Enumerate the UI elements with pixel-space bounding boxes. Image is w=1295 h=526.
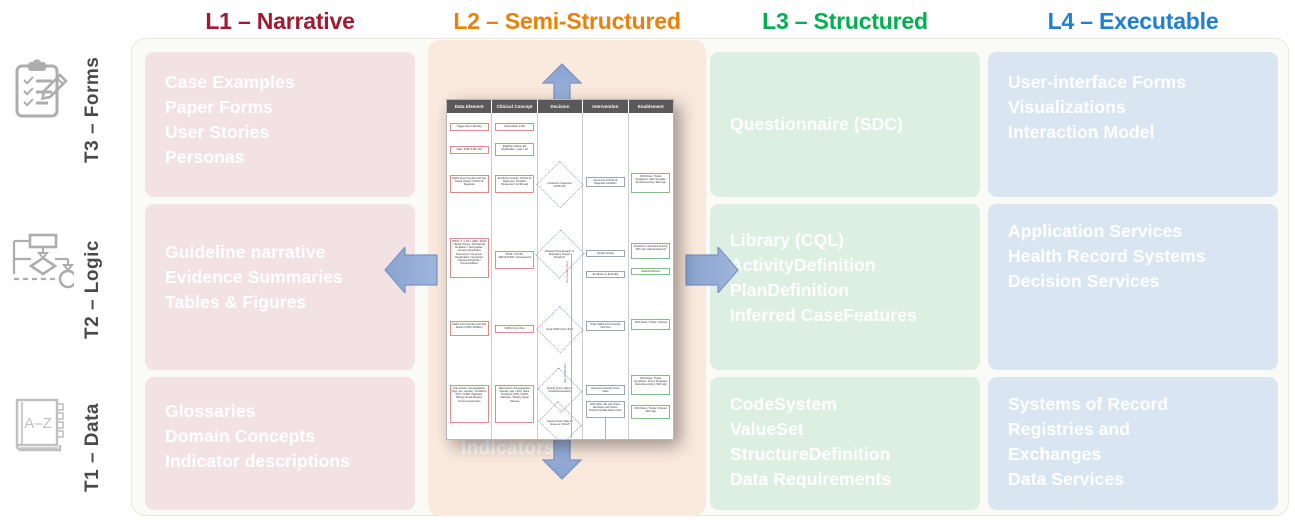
flowchart-lane-intervention: Document COVID-19 Diagnosis Condition Id… (583, 113, 628, 440)
cell-t1-l3-text: CodeSystem ValueSet StructureDefinition … (730, 392, 960, 491)
flow-node: SARS-CoV-2 Nucleic Acid Test Result (Ord… (450, 175, 489, 193)
flow-decision-label: Confirmed / Suspected COVID-19? (544, 182, 576, 188)
cell-t1-l4: Systems of Record Registries and Exchang… (988, 377, 1278, 510)
flowchart-header-decision: Decision (538, 100, 583, 113)
flow-node: Risk Factors: Demographics (Gender, Age … (495, 385, 534, 423)
flow-node: Enrollment Criteria: COVID-19 Diagnosis … (495, 175, 534, 193)
cell-t1-l1: Glossaries Domain Concepts Indicator des… (145, 377, 415, 510)
cell-t2-l4: Application Services Health Record Syste… (988, 204, 1278, 370)
flow-node: Date / DOB or ED Visit (450, 146, 489, 154)
clinical-workflow-swimlane-diagram[interactable]: Data Element Clinical Concept Decision I… (446, 99, 674, 440)
flowchart-header-clinical-concept: Clinical Concept (492, 100, 537, 113)
flowchart-header-enablement: Enablement (629, 100, 673, 113)
flowchart-header-row: Data Element Clinical Concept Decision I… (447, 100, 673, 113)
flow-decision-node: Severity Score Class 2 / Severe or Criti… (538, 401, 582, 440)
flow-node: CDS Rules / Hooks, Ordered (631, 319, 670, 330)
flow-node: Presentation in ED (495, 123, 534, 131)
cell-t1-l4-text: Systems of Record Registries and Exchang… (1008, 392, 1258, 491)
flow-lane-label-test-results: Test Results (ANC) (566, 261, 569, 283)
arrow-l2-to-l1 (383, 247, 439, 298)
flow-node: Order SARS-CoV-2 Nucleic Acid Test (586, 321, 625, 331)
cell-t2-l1-text: Guideline narrative Evidence Summaries T… (165, 240, 395, 315)
flow-connector-line (571, 253, 572, 438)
arrow-l2-to-l3 (684, 247, 740, 298)
cell-t2-l3-text: Library (CQL) ActivityDefinition PlanDef… (730, 228, 960, 327)
flowchart-lane-decision: Confirmed / Suspected COVID-19? Advanced… (538, 113, 583, 440)
flowchart-decision-icon (8, 227, 74, 293)
flow-node: Identify Criteria (586, 250, 625, 257)
cell-t1-l3: CodeSystem ValueSet StructureDefinition … (710, 377, 980, 510)
flow-node: HPO2 / T / LOC / LVEF / SpO2 / Blood Vol… (450, 238, 489, 278)
flowchart-header-intervention: Intervention (583, 100, 628, 113)
flowchart-header-data-element: Data Element (447, 100, 492, 113)
cell-t3-l3: Questionnaire (SDC) (710, 52, 980, 197)
column-header-l3: L3 – Structured (710, 8, 980, 35)
column-header-row: L1 – Narrative L2 – Semi-Structured L3 –… (131, 0, 1289, 40)
row-label-t1: T1 – Data (82, 378, 126, 518)
flowchart-body: Trigger Event: ED Reg Date / DOB or ED V… (447, 113, 673, 440)
flow-node: HPO2 / COVID / VENTILATION / Assessments (495, 251, 534, 269)
row-label-t2: T2 – Logic (82, 215, 126, 365)
cell-t3-l1: Case Examples Paper Forms User Stories P… (145, 52, 415, 197)
az-dictionary-book-icon: A–Z (8, 390, 74, 456)
flow-node: SmartForm, Recruitment Entry, SDC App, D… (631, 243, 670, 259)
flow-node: Risk Factors: Demographics (Age, Sex, Ge… (450, 385, 489, 423)
flow-node: Trigger Event: ED Reg (450, 123, 489, 131)
column-header-l2: L2 – Semi-Structured (428, 8, 706, 35)
flow-node: CDS Rules / Hooks, SmartForm, Data Templ… (631, 173, 670, 193)
column-header-l4: L4 – Executable (988, 8, 1278, 35)
flow-decision-node: Advanced Hemodynamic or Respiratory Supp… (535, 229, 584, 278)
flow-node: Eligibility Criteria: ED Registration + … (495, 143, 534, 156)
flow-node: Data Enrichment (631, 268, 670, 275)
cell-t3-l4: User-interface Forms Visualizations Inte… (988, 52, 1278, 197)
flow-connector-line (605, 418, 606, 440)
column-header-l1: L1 – Narrative (145, 8, 415, 35)
knowledge-levels-matrix-diagram: L1 – Narrative L2 – Semi-Structured L3 –… (0, 0, 1295, 526)
cell-t2-l4-text: Application Services Health Record Syste… (1008, 219, 1258, 294)
cell-t3-l1-text: Case Examples Paper Forms User Stories P… (165, 70, 395, 169)
flow-node: Document COVID-19 Diagnosis Condition (586, 177, 625, 187)
flow-node: CDS Order: ED Lab Orders, Admission Lab … (586, 401, 625, 418)
flowchart-lane-clinical-concept: Presentation in ED Eligibility Criteria:… (492, 113, 537, 440)
flow-lane-label-risk-stratification: Risk Stratification (564, 363, 567, 383)
clipboard-checklist-pencil-icon (8, 58, 74, 124)
svg-text:A–Z: A–Z (24, 415, 52, 432)
cell-t2-l1: Guideline narrative Evidence Summaries T… (145, 204, 415, 370)
flow-node: SARS-CoV-2 Test (495, 325, 534, 333)
flowchart-lane-data-element: Trigger Event: ED Reg Date / DOB or ED V… (447, 113, 492, 440)
row-label-t3: T3 – Forms (82, 40, 126, 180)
cell-t1-l1-text: Glossaries Domain Concepts Indicator des… (165, 399, 395, 474)
flow-decision-node: Confirmed / Suspected COVID-19? (536, 161, 583, 208)
flow-node: Document Severity Score Class (586, 385, 625, 395)
cell-t2-l3: Library (CQL) ActivityDefinition PlanDef… (710, 204, 980, 370)
flow-node: CDS Rules / Hooks, Ordered, SDC App (631, 405, 670, 419)
flow-node: SARS-CoV-2 Nucleic Acid Test Result (LOI… (450, 321, 489, 336)
cell-t3-l3-text: Questionnaire (SDC) (730, 70, 960, 179)
flowchart-lane-enablement: CDS Rules / Hooks, SmartForm, Data Templ… (629, 113, 673, 440)
flow-node: Enrollment is Excluded (586, 271, 625, 278)
cell-t3-l4-text: User-interface Forms Visualizations Inte… (1008, 70, 1258, 145)
flow-decision-node: Need SARS-CoV-2 Test? (536, 306, 583, 353)
flow-node: CDS Rules / Hooks, Completion, Forms Tem… (631, 375, 670, 395)
